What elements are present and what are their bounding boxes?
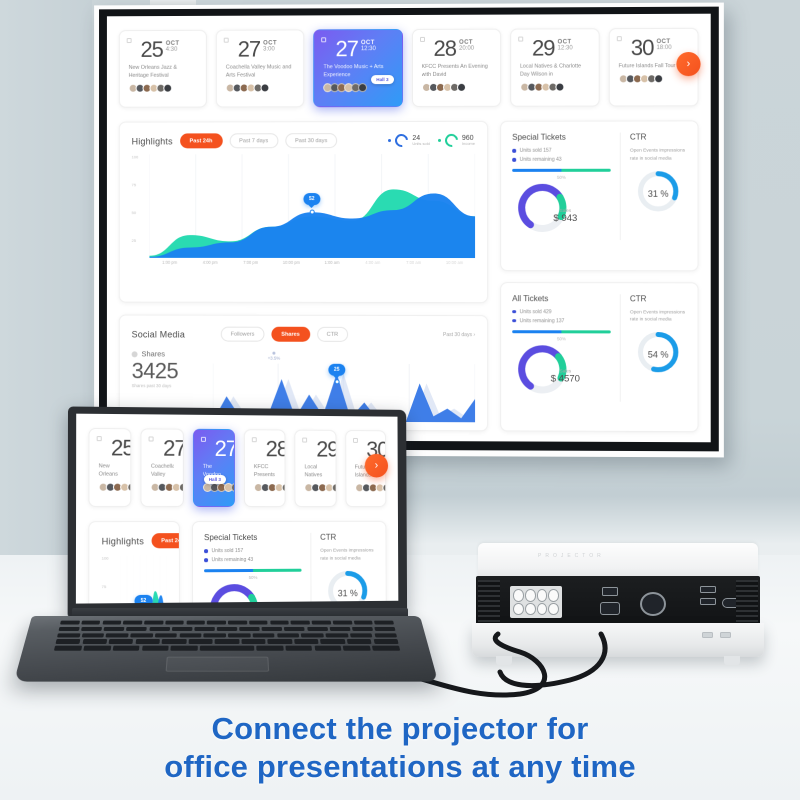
key[interactable] [179, 633, 201, 637]
special-tickets-panel-ctr-ring: 31 % [630, 168, 687, 218]
event-time: 12:30 [361, 46, 376, 52]
legend-dot-icon [512, 149, 516, 153]
all-tickets-panel-ctr-title: CTR [630, 294, 687, 303]
highlights-filter-chip[interactable]: Past 30 days [285, 133, 337, 148]
key[interactable] [81, 621, 101, 625]
key[interactable] [144, 621, 163, 625]
checkbox-icon[interactable] [127, 38, 132, 43]
next-events-button[interactable]: › [365, 454, 388, 478]
key[interactable] [329, 627, 350, 631]
event-day: 27 [238, 39, 260, 61]
social-metric-label: Shares [142, 349, 166, 358]
highlights-panel: Highlights Past 24hPast 7 daysPast 30 da… [119, 121, 488, 303]
rca-jack[interactable] [548, 603, 559, 616]
power-switch[interactable] [602, 587, 618, 596]
special-tickets-panel: Special Tickets Units sold 157 Units rem… [500, 120, 698, 270]
key-row [57, 633, 397, 637]
event-card[interactable]: 29 OCT 12:30 Local Natives & Charlotte D… [295, 430, 337, 507]
event-day: 29 [532, 37, 555, 59]
sales-value: $ 943 [553, 213, 577, 224]
special-tickets-panel-progress-bar [204, 569, 301, 573]
key[interactable] [253, 633, 275, 637]
key[interactable] [239, 627, 259, 631]
tagline-line-2: office presentations at any time [0, 748, 800, 786]
highlights-title: Highlights [132, 136, 173, 146]
event-card[interactable]: 27 OCT 3:00 Coachella Valley Music and A… [141, 428, 184, 507]
social-metric-sub: Shares past 30 days [132, 383, 205, 388]
key[interactable] [374, 621, 394, 625]
legend-sold-label: Units sold 157 [520, 148, 552, 154]
event-title: KFCC Presents An Evening with David [254, 463, 276, 479]
vga-port[interactable] [722, 598, 748, 608]
stat-ring-icon [442, 131, 460, 149]
checkbox-icon[interactable] [353, 438, 358, 443]
rca-jack-group-left[interactable] [510, 586, 562, 618]
legend-sold-label: Units sold 157 [212, 548, 244, 554]
social-tab[interactable]: Followers [221, 327, 265, 342]
key-row [56, 639, 399, 643]
legend-dot-icon [204, 549, 208, 553]
projector-foot-left [496, 656, 512, 665]
stat-ring-icon [393, 131, 411, 149]
key[interactable] [82, 639, 107, 643]
key[interactable] [374, 633, 397, 637]
attendee-avatars [226, 83, 295, 92]
social-header: Social Media FollowersSharesCTR Past 30 … [132, 326, 475, 342]
highlights-title: Highlights [102, 536, 144, 546]
event-title: New Orleans Jazz & Heritage Festival [129, 64, 197, 80]
key[interactable] [270, 621, 289, 625]
legend-remaining-label: Units remaining 137 [520, 318, 565, 324]
spark-tooltip: 25 [328, 363, 346, 375]
highlights-filter-chip[interactable]: Past 24h [151, 533, 180, 548]
event-day: 27 [215, 438, 235, 460]
next-events-button[interactable]: › [676, 52, 700, 76]
key[interactable] [142, 646, 169, 651]
social-range-select[interactable]: Past 30 days › [443, 332, 475, 338]
all-tickets-panel-title: All Tickets [512, 294, 611, 303]
legend-remaining: Units remaining 43 [204, 557, 301, 563]
highlights-header: Highlights Past 24hPast 7 daysPast 30 da… [102, 533, 167, 549]
key-row [58, 627, 395, 631]
legend-dot-icon [512, 158, 516, 162]
projector-lower-shell [472, 623, 764, 657]
key[interactable] [372, 646, 400, 651]
key[interactable] [333, 621, 352, 625]
special-tickets-panel-ctr-title: CTR [320, 533, 375, 542]
event-card[interactable]: 28 OCT 20:00 KFCC Presents An Evening wi… [412, 29, 501, 107]
event-card[interactable]: 28 OCT 20:00 KFCC Presents An Evening wi… [244, 429, 286, 507]
all-tickets-panel-progress-bar [512, 330, 611, 333]
fan-vent [640, 592, 666, 616]
key[interactable] [325, 633, 348, 637]
event-time: 4:30 [166, 47, 180, 53]
usb-port-2[interactable] [720, 632, 731, 638]
event-time: 12:30 [558, 45, 573, 51]
laptop-keyboard[interactable] [53, 621, 400, 654]
key[interactable] [301, 633, 324, 637]
hdmi-port-2[interactable] [700, 598, 716, 605]
rca-jack[interactable] [548, 589, 559, 602]
legend-sold: Units sold 157 [512, 148, 611, 154]
key[interactable] [188, 639, 212, 643]
key[interactable] [350, 633, 373, 637]
laptop-lid: 25 OCT 4:30 New Orleans Jazz & Heritage … [68, 406, 407, 617]
y-axis: 100755025 [132, 154, 148, 257]
social-tab[interactable]: Shares [271, 327, 309, 342]
rca-jack[interactable] [525, 603, 536, 616]
projection-screen-frame: 25 OCT 4:30 New Orleans Jazz & Heritage … [99, 7, 719, 452]
projection-screen: 25 OCT 4:30 New Orleans Jazz & Heritage … [94, 3, 724, 458]
rca-jack[interactable] [537, 603, 548, 616]
key[interactable] [249, 621, 268, 625]
checkbox-icon[interactable] [518, 37, 523, 42]
all-tickets-panel-progress-label: 50% [512, 336, 611, 341]
checkbox-icon[interactable] [201, 437, 206, 442]
event-card[interactable]: 27 OCT 12:30 The Voodoo Music + Arts Exp… [193, 429, 235, 507]
key[interactable] [58, 627, 79, 631]
key[interactable] [285, 646, 312, 651]
projector-brand-label: PROJECTOR [538, 553, 605, 559]
social-metric-value: 3425 [132, 358, 205, 383]
key[interactable] [294, 639, 319, 643]
attendee-avatars [324, 83, 393, 92]
growth-dot-icon [272, 352, 275, 355]
key-row [54, 646, 400, 651]
highlights-header: Highlights Past 24hPast 7 daysPast 30 da… [132, 133, 475, 149]
key[interactable] [228, 633, 250, 637]
key[interactable] [123, 621, 142, 625]
avatar-more[interactable] [163, 84, 172, 93]
special-tickets-panel-progress-label: 50% [204, 575, 302, 581]
dashboard-body: Highlights Past 24hPast 7 daysPast 30 da… [119, 120, 699, 432]
event-cards-row: 25 OCT 4:30 New Orleans Jazz & Heritage … [88, 428, 386, 507]
avatar [382, 483, 386, 492]
chart-plot: 52 [120, 555, 167, 604]
highlights-filter-chip[interactable]: Past 24h [180, 133, 223, 148]
checkbox-icon[interactable] [617, 36, 622, 41]
x-tick: 7:00 pm [230, 260, 271, 272]
key[interactable] [374, 627, 395, 631]
event-day: 27 [335, 38, 357, 60]
event-day: 29 [316, 439, 336, 461]
y-tick: 75 [132, 182, 136, 187]
x-axis: 1:00 pm4:00 pm7:00 pm10:00 pm1:00 am4:00… [149, 260, 475, 272]
special-tickets-panel-ctr-desc: Open Events impressions rate in social m… [630, 148, 687, 164]
highlights-panel: Highlights Past 24hPast 7 daysPast 30 da… [88, 521, 180, 604]
laptop-base [14, 616, 438, 682]
attendee-avatars [129, 84, 197, 93]
legend-dot-icon [204, 558, 208, 562]
key[interactable] [373, 639, 398, 643]
key[interactable] [81, 633, 104, 637]
checkbox-icon[interactable] [420, 37, 425, 42]
power-inlet-port[interactable] [600, 602, 620, 615]
highlights-area-chart: 100755025 52 1:00 pm4:00 pm7:00 pm10:00 … [132, 154, 475, 272]
right-column: Special Tickets Units sold 157 Units rem… [500, 120, 698, 432]
projector-rear-panel [476, 576, 760, 628]
stat-dot-icon [438, 139, 441, 142]
key[interactable] [343, 646, 371, 651]
key[interactable] [130, 633, 153, 637]
special-tickets-panel-ctr-desc: Open Events impressions rate in social m… [320, 548, 375, 564]
avatar-more[interactable] [457, 83, 466, 92]
key[interactable] [204, 633, 226, 637]
legend-remaining: Units remaining 137 [512, 318, 611, 324]
attendee-avatars [254, 483, 276, 492]
y-tick: 50 [132, 210, 136, 215]
event-title: Coachella Valley Music and Arts Festival [226, 63, 295, 79]
chevron-down-icon: › [473, 332, 475, 338]
event-card[interactable]: 29 OCT 12:30 Local Natives & Charlotte D… [510, 28, 600, 107]
event-card[interactable]: 25 OCT 4:30 New Orleans Jazz & Heritage … [88, 428, 131, 507]
event-day: 27 [163, 438, 184, 460]
x-tick: 4:00 am [352, 260, 393, 272]
tagline: Connect the projector for office present… [0, 710, 800, 786]
key[interactable] [347, 639, 372, 643]
key[interactable] [277, 633, 300, 637]
key[interactable] [314, 646, 341, 651]
social-title: Social Media [132, 329, 185, 339]
key[interactable] [106, 633, 129, 637]
avatar [179, 483, 183, 492]
social-tab[interactable]: CTR [317, 327, 348, 342]
y-tick: 25 [132, 238, 136, 243]
ctr-value: 54 % [648, 350, 669, 360]
chart-tooltip-point [309, 210, 314, 215]
y-tick: 100 [102, 555, 109, 560]
usb-port[interactable] [702, 632, 713, 638]
legend-dot-icon [512, 319, 516, 323]
rca-jack[interactable] [537, 589, 548, 602]
key[interactable] [207, 621, 226, 625]
tagline-line-1: Connect the projector for [0, 710, 800, 748]
event-day: 30 [631, 37, 654, 59]
key[interactable] [135, 639, 160, 643]
key[interactable] [109, 639, 134, 643]
highlights-stats: 24 Units sold 960 Income [388, 134, 475, 147]
spark-tooltip-point [334, 379, 339, 384]
special-tickets-panel-ctr-title: CTR [630, 132, 687, 141]
legend-sold-label: Units sold 429 [520, 309, 552, 315]
y-axis: 100755025 [102, 555, 118, 603]
y-tick: 75 [102, 584, 107, 589]
chart-tooltip: 52 [303, 193, 320, 205]
key[interactable] [217, 627, 237, 631]
key[interactable] [149, 627, 170, 631]
checkbox-icon[interactable] [252, 437, 257, 442]
key[interactable] [215, 639, 239, 643]
attendee-avatars [619, 74, 689, 83]
x-tick: 10:00 am [434, 260, 475, 272]
key[interactable] [200, 646, 254, 651]
key[interactable] [162, 639, 187, 643]
x-tick: 10:00 pm [271, 260, 312, 272]
attendee-avatars [355, 483, 377, 492]
event-day: 28 [266, 438, 286, 460]
checkbox-icon[interactable] [302, 438, 307, 443]
key[interactable] [56, 639, 81, 643]
checkbox-icon[interactable] [224, 38, 229, 43]
key[interactable] [241, 639, 265, 643]
y-tick: 100 [132, 154, 139, 159]
avatar [332, 483, 336, 492]
event-time: 18:00 [656, 45, 671, 51]
right-column: Special Tickets Units sold 157 Units rem… [192, 521, 388, 604]
highlights-filter-chip[interactable]: Past 7 days [229, 133, 278, 148]
avatar-more[interactable] [555, 83, 564, 92]
dashboard-laptop: 25 OCT 4:30 New Orleans Jazz & Heritage … [76, 414, 398, 604]
checkbox-icon[interactable] [322, 37, 327, 42]
event-title: New Orleans Jazz & Heritage Festival [99, 462, 122, 478]
laptop-screen: 25 OCT 4:30 New Orleans Jazz & Heritage … [76, 414, 398, 604]
growth-label: +3.5% [268, 356, 281, 361]
key[interactable] [172, 627, 193, 631]
legend-sold: Units sold 429 [512, 309, 611, 315]
key[interactable] [262, 627, 283, 631]
checkbox-icon[interactable] [97, 436, 102, 441]
special-tickets-panel-ctr-ring: 31 % [320, 568, 375, 603]
x-tick: 4:00 pm [190, 260, 231, 272]
highlight-stat: 24 Units sold [388, 134, 430, 147]
event-day: 25 [141, 39, 163, 61]
all-tickets-panel: All Tickets Units sold 429 Units remaini… [500, 282, 698, 433]
dashboard-projected: 25 OCT 4:30 New Orleans Jazz & Heritage … [107, 14, 711, 443]
key[interactable] [102, 621, 121, 625]
projection-screen-surface: 25 OCT 4:30 New Orleans Jazz & Heritage … [107, 14, 711, 443]
all-tickets-panel-ctr-ring: 54 % [630, 330, 687, 380]
event-hall-badge: Hall 3 [371, 75, 393, 84]
avatar [231, 483, 235, 492]
key[interactable] [57, 633, 80, 637]
legend-dot-icon [512, 310, 516, 314]
key[interactable] [291, 621, 310, 625]
event-title: Coachella Valley Music and Arts Festival [151, 463, 174, 479]
rca-jack[interactable] [525, 589, 536, 602]
stat-label: Units sold [412, 142, 430, 146]
special-tickets-panel-progress-bar [512, 169, 611, 172]
dashboard-body: Highlights Past 24hPast 7 daysPast 30 da… [88, 521, 388, 604]
x-tick: 1:00 pm [149, 260, 189, 272]
avatar [127, 483, 131, 492]
all-tickets-panel-sales-gauge: Sales $ 4570 [512, 343, 611, 401]
key[interactable] [112, 646, 139, 651]
key[interactable] [165, 621, 184, 625]
highlight-stat: 960 Income [438, 134, 475, 147]
key[interactable] [83, 646, 111, 651]
key[interactable] [171, 646, 198, 651]
projector-foot-right [724, 656, 740, 665]
event-cards-row: 25 OCT 4:30 New Orleans Jazz & Heritage … [119, 28, 699, 108]
key[interactable] [268, 639, 293, 643]
key-row [60, 621, 394, 625]
key[interactable] [321, 639, 346, 643]
highlights-area-chart: 100755025 52 1:00 pm4:00 pm7:00 pm10:00 … [101, 555, 166, 604]
legend-sold: Units sold 157 [204, 548, 301, 554]
avatar-more[interactable] [358, 83, 367, 92]
key[interactable] [186, 621, 205, 625]
avatar [282, 483, 286, 492]
attendee-avatars [203, 483, 225, 492]
special-tickets-panel: Special Tickets Units sold 157 Units rem… [192, 521, 387, 604]
attendee-avatars [151, 483, 174, 492]
key[interactable] [81, 627, 102, 631]
x-tick: 7:00 am [393, 260, 434, 272]
event-card[interactable]: 25 OCT 4:30 New Orleans Jazz & Heritage … [119, 30, 207, 108]
legend-remaining-label: Units remaining 43 [212, 557, 254, 563]
event-time: 3:00 [263, 46, 277, 52]
legend-remaining: Units remaining 43 [512, 157, 611, 163]
key[interactable] [54, 646, 82, 651]
key[interactable] [354, 621, 374, 625]
ctr-value: 31 % [648, 189, 669, 199]
key[interactable] [155, 633, 177, 637]
avatar-more[interactable] [654, 74, 663, 83]
sales-value: $ 4570 [551, 374, 580, 385]
chart-plot: 52 [149, 154, 475, 258]
x-tick: 1:00 am [312, 260, 353, 272]
event-day: 28 [434, 38, 457, 60]
event-day: 25 [111, 437, 132, 459]
event-title: Local Natives & Charlotte Day Wilson in [520, 62, 590, 78]
key[interactable] [60, 621, 80, 625]
projector-top-shell: PROJECTOR [478, 543, 758, 579]
key[interactable] [104, 627, 125, 631]
stat-label: Income [462, 142, 475, 146]
metric-dot-icon [132, 351, 138, 357]
special-tickets-panel-progress-label: 50% [512, 175, 611, 180]
key[interactable] [228, 621, 247, 625]
key[interactable] [126, 627, 147, 631]
event-hall-badge: Hall 3 [204, 475, 226, 484]
hdmi-port[interactable] [700, 586, 716, 593]
special-tickets-panel-title: Special Tickets [512, 133, 611, 142]
legend-remaining-label: Units remaining 43 [520, 157, 562, 163]
event-card[interactable]: 27 OCT 3:00 Coachella Valley Music and A… [216, 29, 305, 107]
chart-tooltip: 52 [134, 594, 152, 603]
attendee-avatars [520, 82, 590, 91]
key[interactable] [352, 627, 373, 631]
rca-jack[interactable] [513, 589, 524, 602]
all-tickets-panel-ctr-desc: Open Events impressions rate in social m… [630, 309, 687, 325]
left-column: Highlights Past 24hPast 7 daysPast 30 da… [119, 121, 488, 432]
event-card[interactable]: 27 OCT 12:30 The Voodoo Music + Arts Exp… [314, 29, 403, 107]
avatar-more[interactable] [261, 83, 270, 92]
attendee-avatars [305, 483, 327, 492]
ctr-value: 31 % [338, 588, 358, 598]
special-tickets-panel-sales-gauge: Sales $ 943 [204, 582, 302, 604]
event-title: Local Natives & Charlotte Day Wilson in [305, 463, 327, 479]
projector-device: PROJECTOR [468, 543, 768, 668]
left-column: Highlights Past 24hPast 7 daysPast 30 da… [88, 521, 180, 604]
laptop-trackpad[interactable] [166, 657, 270, 672]
key[interactable] [194, 627, 214, 631]
social-range-label: Past 30 days [443, 332, 472, 338]
event-time: 20:00 [459, 46, 474, 52]
special-tickets-panel-sales-gauge: Sales $ 943 [512, 182, 611, 240]
key[interactable] [312, 621, 331, 625]
rca-jack[interactable] [513, 603, 524, 616]
checkbox-icon[interactable] [149, 436, 154, 441]
key[interactable] [284, 627, 305, 631]
event-title: KFCC Presents An Evening with David [422, 63, 491, 79]
key[interactable] [307, 627, 328, 631]
attendee-avatars [422, 83, 491, 92]
key[interactable] [256, 646, 283, 651]
social-growth-annotation: +3.5% [268, 352, 281, 361]
special-tickets-panel-title: Special Tickets [204, 533, 301, 542]
laptop: 25 OCT 4:30 New Orleans Jazz & Heritage … [22, 408, 422, 698]
